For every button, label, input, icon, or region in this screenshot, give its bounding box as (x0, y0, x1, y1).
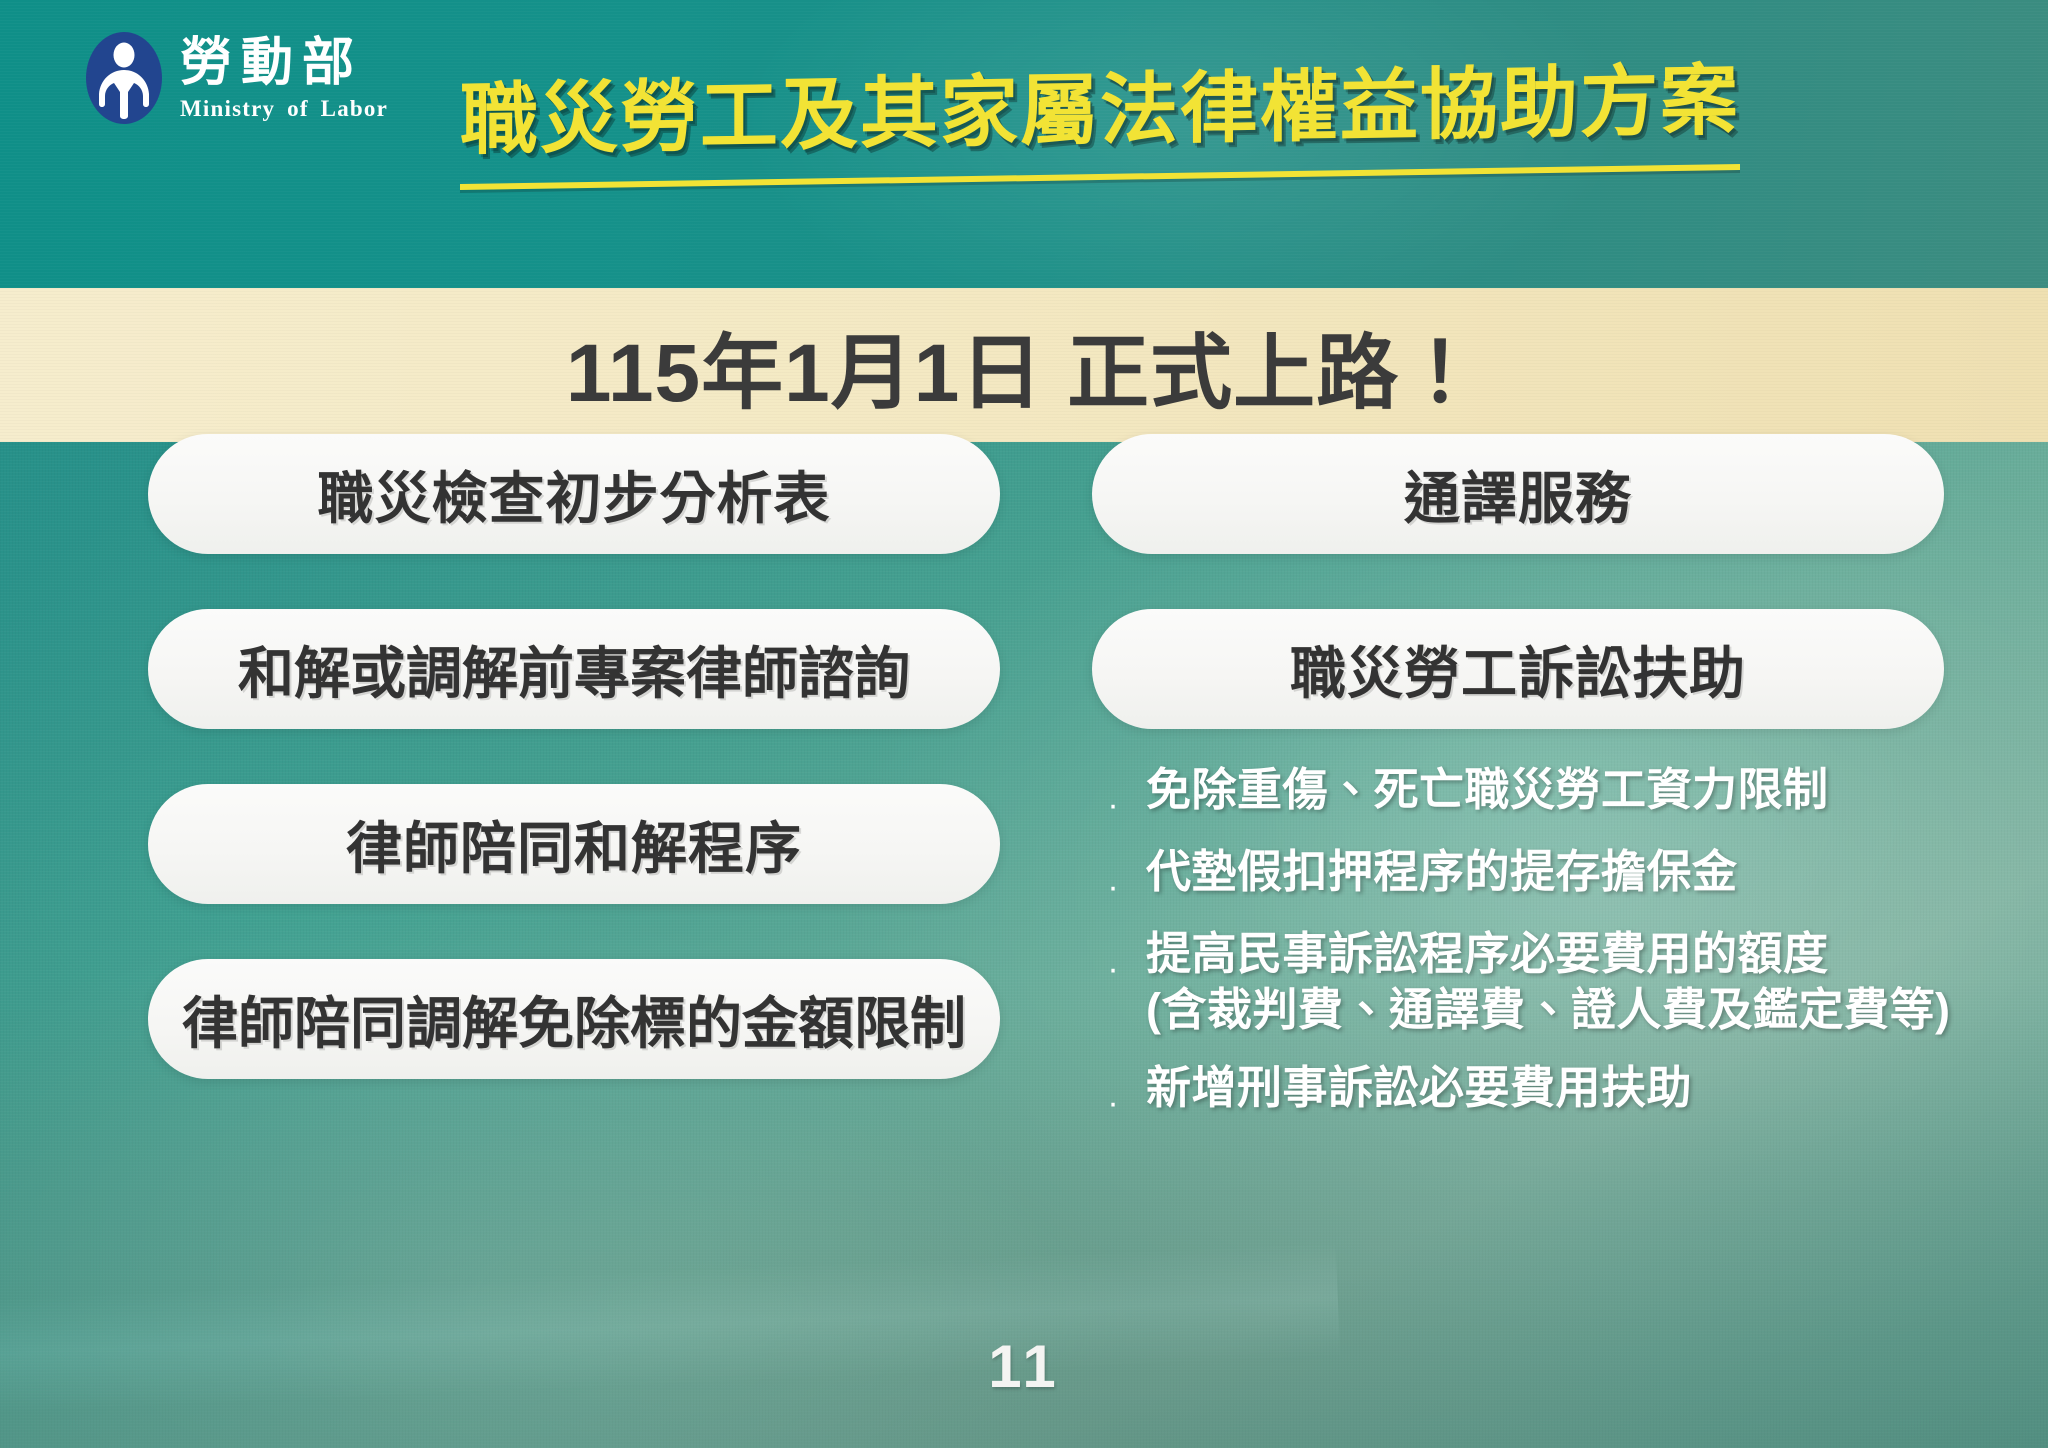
title-block: 職災勞工及其家屬法律權益協助方案 (460, 48, 1740, 180)
launch-date-text: 115年1月1日 正式上路！ (566, 306, 1482, 425)
list-item: · 免除重傷、死亡職災勞工資力限制 (1106, 762, 1966, 822)
bullet-dot-icon: · (1106, 788, 1120, 822)
service-pill-interpretation-service[interactable]: 通譯服務 (1092, 434, 1944, 554)
service-pill-pre-mediation-lawyer-consult[interactable]: 和解或調解前專案律師諮詢 (148, 609, 1000, 729)
bullet-dot-icon: · (1106, 1086, 1120, 1120)
bullet-text: 代墊假扣押程序的提存擔保金 (1146, 844, 1738, 900)
service-pill-label: 律師陪同和解程序 (346, 804, 802, 885)
ministry-logo-text: 勞動部 Ministry of Labor (180, 37, 388, 120)
service-pill-label: 通譯服務 (1404, 454, 1632, 535)
slide-canvas: 勞動部 Ministry of Labor 職災勞工及其家屬法律權益協助方案 1… (0, 0, 2048, 1448)
bullet-text-line2: (含裁判費、通譯費、證人費及鑑定費等) (1146, 982, 1950, 1038)
litigation-assistance-bullet-list: · 免除重傷、死亡職災勞工資力限制 · 代墊假扣押程序的提存擔保金 · 提高民事… (1106, 762, 1966, 1142)
bullet-text: 免除重傷、死亡職災勞工資力限制 (1146, 762, 1829, 818)
service-pill-litigation-assistance[interactable]: 職災勞工訴訟扶助 (1092, 609, 1944, 729)
bullet-text: 新增刑事訴訟必要費用扶助 (1146, 1060, 1692, 1116)
bullet-dot-icon: · (1106, 952, 1120, 986)
bullet-text-multiline: 提高民事訴訟程序必要費用的額度(含裁判費、通譯費、證人費及鑑定費等) (1146, 926, 1950, 1038)
service-pill-preliminary-analysis[interactable]: 職災檢查初步分析表 (148, 434, 1000, 554)
service-pill-label: 職災檢查初步分析表 (318, 454, 831, 535)
service-pill-label: 職災勞工訴訟扶助 (1290, 629, 1746, 710)
list-item: · 新增刑事訴訟必要費用扶助 (1106, 1060, 1966, 1120)
service-pill-lawyer-accompany-settlement[interactable]: 律師陪同和解程序 (148, 784, 1000, 904)
list-item: · 代墊假扣押程序的提存擔保金 (1106, 844, 1966, 904)
ministry-name-en: Ministry of Labor (180, 97, 388, 120)
slide-header: 勞動部 Ministry of Labor 職災勞工及其家屬法律權益協助方案 (0, 0, 2048, 288)
page-number: 11 (0, 1332, 2048, 1401)
service-pill-mediation-amount-limit-waiver[interactable]: 律師陪同調解免除標的金額限制 (148, 959, 1000, 1079)
ministry-logo: 勞動部 Ministry of Labor (84, 30, 388, 126)
content-area: 職災檢查初步分析表 和解或調解前專案律師諮詢 律師陪同和解程序 律師陪同調解免除… (0, 442, 2048, 1448)
ministry-name-cn: 勞動部 (180, 37, 388, 89)
bullet-text-line1: 提高民事訴訟程序必要費用的額度 (1146, 926, 1950, 982)
page-title: 職災勞工及其家屬法律權益協助方案 (460, 38, 1740, 170)
launch-date-banner: 115年1月1日 正式上路！ (0, 288, 2048, 442)
list-item: · 提高民事訴訟程序必要費用的額度(含裁判費、通譯費、證人費及鑑定費等) (1106, 926, 1966, 1038)
ministry-of-labor-emblem-icon (84, 30, 164, 126)
service-pill-label: 和解或調解前專案律師諮詢 (238, 629, 910, 710)
service-pill-label: 律師陪同調解免除標的金額限制 (182, 979, 966, 1060)
title-underline (460, 164, 1740, 190)
bullet-dot-icon: · (1106, 870, 1120, 904)
